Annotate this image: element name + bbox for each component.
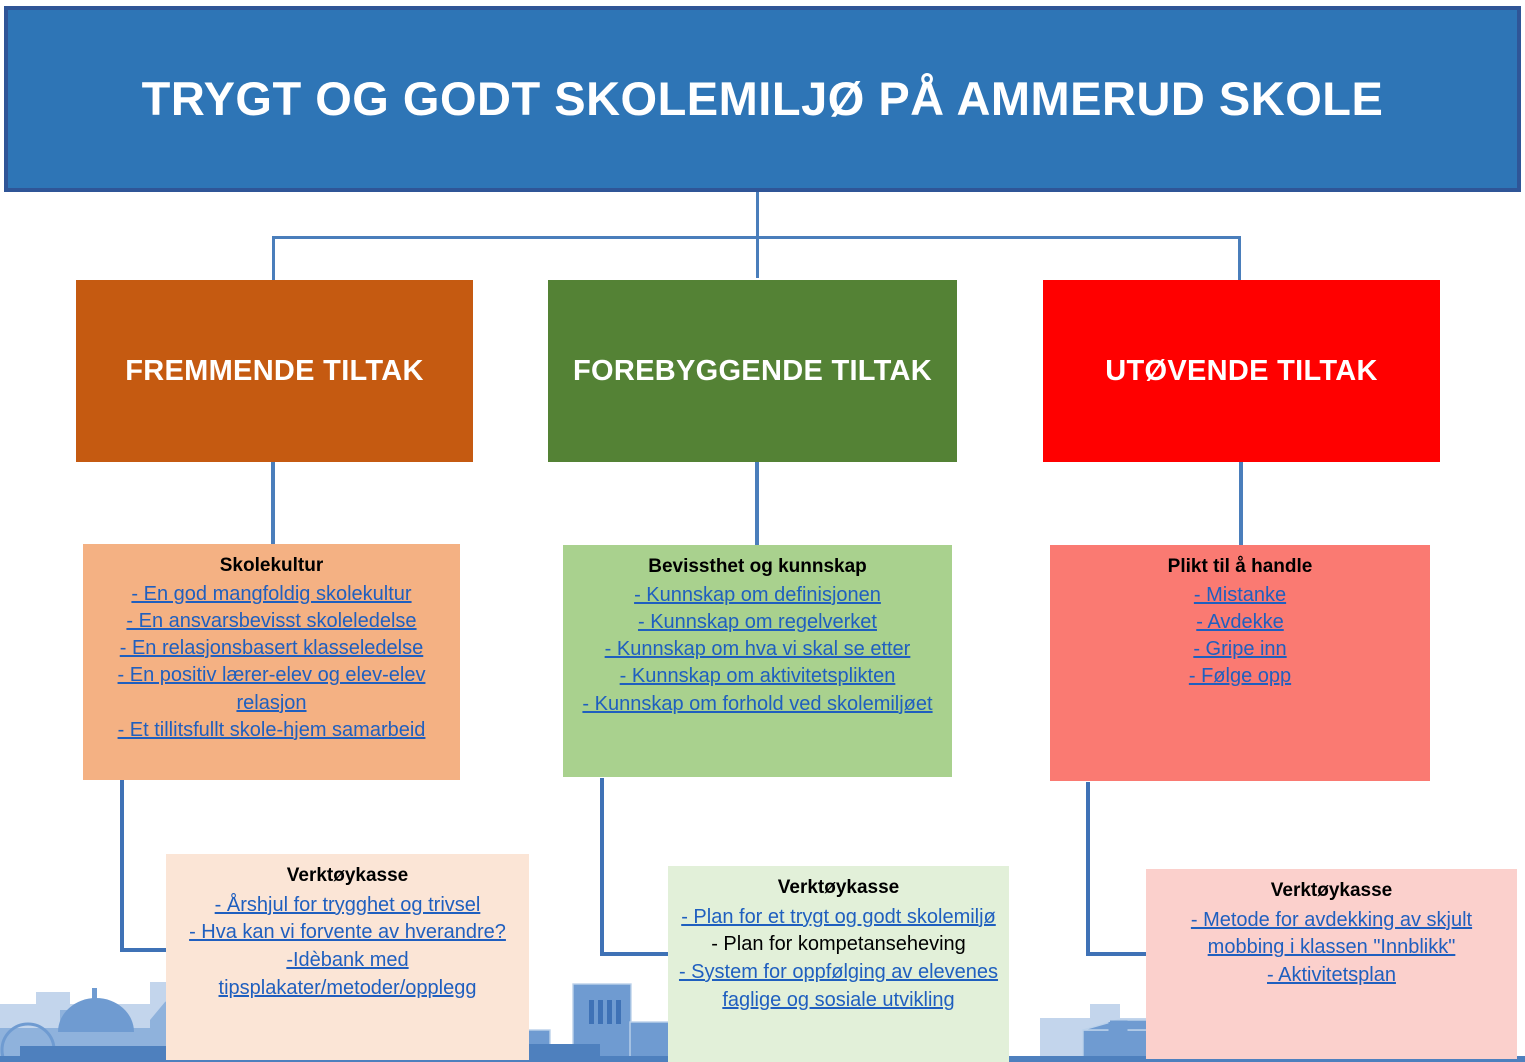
connector-card2-elbow-vertical — [1086, 782, 1090, 956]
toolbox-link-item[interactable]: - Årshjul for trygghet og trivsel — [172, 892, 523, 920]
toolbox-plain-item: - Plan for kompetanseheving — [674, 931, 1003, 959]
category-label: UTØVENDE TILTAK — [1105, 355, 1377, 388]
toolbox-link-item[interactable]: - Metode for avdekking av skjult mobbing… — [1152, 907, 1511, 962]
connector-horizontal-bus — [272, 236, 1241, 239]
toolbox-link-item[interactable]: -Idèbank med tipsplakater/metoder/oppleg… — [172, 947, 523, 1002]
connector-cat1-to-card1 — [755, 462, 759, 546]
slide-title-box: TRYGT OG GODT SKOLEMILJØ PÅ AMMERUD SKOL… — [4, 6, 1521, 192]
content-card-bevissthet: Bevissthet og kunnskap - Kunnskap om def… — [563, 545, 952, 777]
connector-card1-elbow-vertical — [600, 778, 604, 956]
connector-cat2-to-card2 — [1239, 462, 1243, 546]
toolbox-title: Verktøykasse — [1152, 879, 1511, 903]
card-link-item[interactable]: - Gripe inn — [1056, 636, 1424, 663]
toolbox-card-forebyggende: Verktøykasse - Plan for et trygt og godt… — [668, 866, 1009, 1062]
card-link-item[interactable]: - Kunnskap om aktivitetsplikten — [569, 663, 946, 690]
card-title: Plikt til å handle — [1056, 555, 1424, 579]
card-link-item[interactable]: - En ansvarsbevisst skoleledelse — [89, 608, 454, 635]
card-link-item[interactable]: - Kunnskap om forhold ved skolemiljøet — [569, 691, 946, 718]
toolbox-card-fremmende: Verktøykasse - Årshjul for trygghet og t… — [166, 854, 529, 1060]
toolbox-title: Verktøykasse — [674, 876, 1003, 900]
card-link-item[interactable]: - En positiv lærer-elev og elev-elev rel… — [89, 662, 454, 716]
category-box-forebyggende[interactable]: FOREBYGGENDE TILTAK — [548, 280, 957, 462]
toolbox-link-item[interactable]: - Plan for et trygt og godt skolemiljø — [674, 904, 1003, 932]
category-label: FOREBYGGENDE TILTAK — [573, 355, 932, 388]
connector-trunk-vertical — [756, 192, 759, 278]
card-link-item[interactable]: - Følge opp — [1056, 663, 1424, 690]
slide-canvas: TRYGT OG GODT SKOLEMILJØ PÅ AMMERUD SKOL… — [0, 0, 1525, 1062]
card-link-item[interactable]: - Kunnskap om definisjonen — [569, 582, 946, 609]
toolbox-title: Verktøykasse — [172, 864, 523, 888]
card-link-item[interactable]: - Kunnskap om regelverket — [569, 609, 946, 636]
content-card-skolekultur: Skolekultur - En god mangfoldig skolekul… — [83, 544, 460, 780]
page-title: TRYGT OG GODT SKOLEMILJØ PÅ AMMERUD SKOL… — [142, 73, 1384, 125]
category-label: FREMMENDE TILTAK — [125, 355, 424, 388]
card-link-item[interactable]: - En god mangfoldig skolekultur — [89, 581, 454, 608]
card-link-item[interactable]: - Kunnskap om hva vi skal se etter — [569, 636, 946, 663]
connector-card1-elbow-horizontal — [600, 952, 678, 956]
toolbox-card-utovende: Verktøykasse - Metode for avdekking av s… — [1146, 869, 1517, 1059]
toolbox-link-item[interactable]: - Hva kan vi forvente av hverandre? — [172, 919, 523, 947]
connector-card0-elbow-vertical — [120, 780, 124, 952]
content-card-plikt: Plikt til å handle - Mistanke - Avdekke … — [1050, 545, 1430, 781]
category-box-utovende[interactable]: UTØVENDE TILTAK — [1043, 280, 1440, 462]
card-link-item[interactable]: - Avdekke — [1056, 609, 1424, 636]
card-link-item[interactable]: - Et tillitsfullt skole-hjem samarbeid — [89, 717, 454, 744]
card-link-item[interactable]: - Mistanke — [1056, 582, 1424, 609]
toolbox-link-item[interactable]: - Aktivitetsplan — [1152, 962, 1511, 990]
card-title: Bevissthet og kunnskap — [569, 555, 946, 579]
connector-drop-right — [1238, 236, 1241, 280]
toolbox-link-item[interactable]: - System for oppfølging av elevenes fagl… — [674, 959, 1003, 1014]
card-link-item[interactable]: - En relasjonsbasert klasseledelse — [89, 635, 454, 662]
card-title: Skolekultur — [89, 554, 454, 578]
connector-cat0-to-card0 — [271, 462, 275, 546]
category-box-fremmende[interactable]: FREMMENDE TILTAK — [76, 280, 473, 462]
connector-drop-left — [272, 236, 275, 280]
